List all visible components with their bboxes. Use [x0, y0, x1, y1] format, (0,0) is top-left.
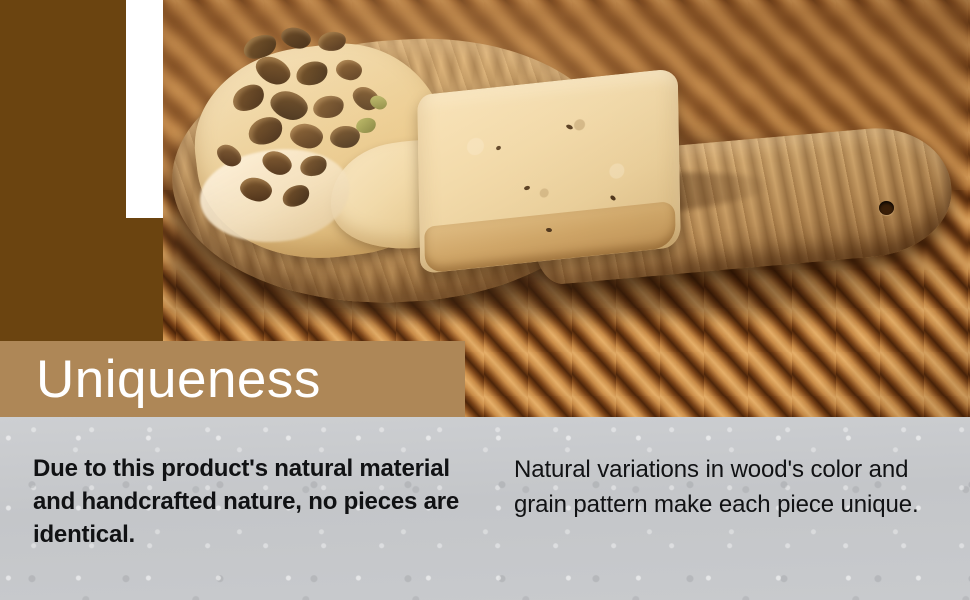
description-left-column: Due to this product's natural material a…	[33, 452, 493, 551]
page-title: Uniqueness	[36, 353, 321, 406]
accent-block-brown-lower	[126, 218, 163, 341]
title-band: Uniqueness	[0, 341, 465, 417]
board-hanging-hole	[879, 201, 894, 215]
accent-block-brown	[0, 0, 126, 341]
product-feature-banner: Uniqueness Due to this product's natural…	[0, 0, 970, 600]
description-right-column: Natural variations in wood's color and g…	[514, 452, 944, 522]
accent-strip-white	[126, 0, 163, 218]
